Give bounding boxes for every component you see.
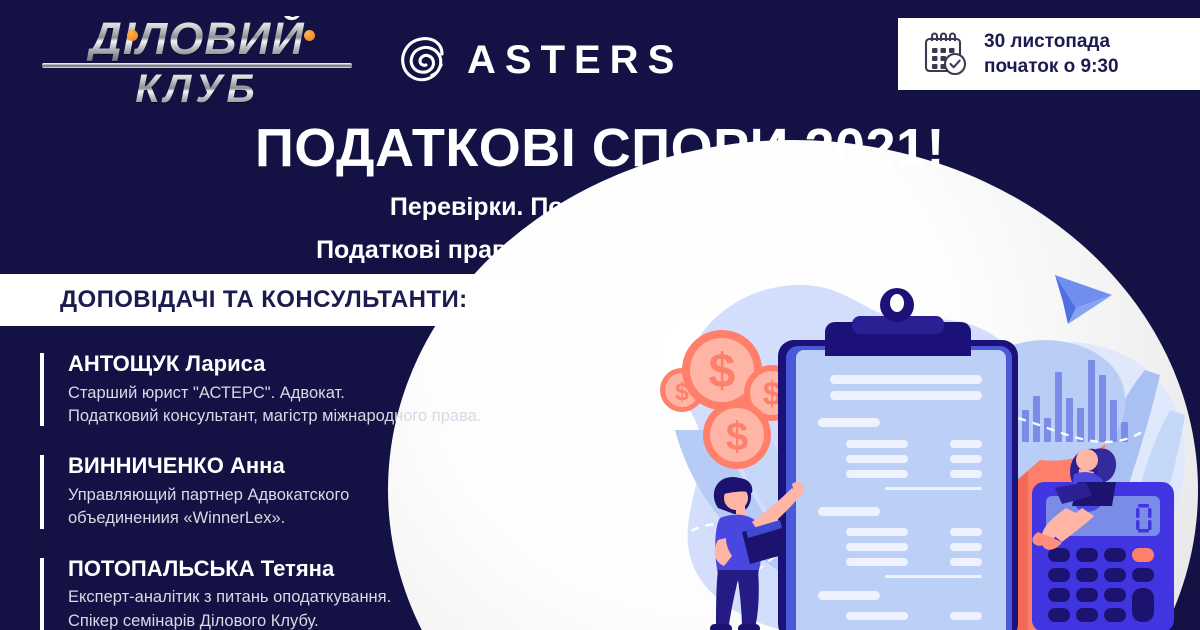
title-block: ПОДАТКОВІ СПОРИ 2021! Перевірки. Податко… [0, 120, 1200, 265]
speaker-accent-bar [40, 558, 44, 630]
asters-logo: ASTERS [398, 34, 683, 86]
calendar-check-icon [922, 31, 968, 77]
logo-dot-right-icon [304, 30, 315, 41]
calculator-accent-key [1132, 548, 1154, 562]
speaker-description-line1: Експерт-аналітик з питань оподаткування. [68, 586, 600, 609]
paper-plane-icon [1055, 275, 1112, 324]
list-item: ПОТОПАЛЬСЬКА Тетяна Експерт-аналітик з п… [40, 555, 600, 630]
speaker-firstname: Тетяна [261, 556, 334, 581]
speaker-accent-bar [40, 455, 44, 528]
speakers-section-header: ДОПОВІДАЧІ ТА КОНСУЛЬТАНТИ: [0, 274, 520, 326]
subtitle-line1: Перевірки. Податковий контроль! [0, 193, 1200, 222]
dilovy-klub-logo: ДІЛОВИЙ КЛУБ [42, 16, 352, 108]
speaker-firstname: Лариса [185, 351, 265, 376]
page-title: ПОДАТКОВІ СПОРИ 2021! [0, 120, 1200, 177]
speaker-name: ПОТОПАЛЬСЬКА Тетяна [68, 555, 600, 584]
asters-spiral-icon [398, 34, 450, 86]
speaker-name: АНТОЩУК Лариса [68, 350, 600, 379]
event-banner: $ $ $ $ [0, 0, 1200, 630]
speaker-surname: ПОТОПАЛЬСЬКА [68, 556, 255, 581]
speaker-description-line2: Податковий консультант, магістр міжнарод… [68, 405, 600, 428]
speaker-surname: ВИННИЧЕНКО [68, 453, 224, 478]
dilovy-klub-logo-line2: КЛУБ [42, 69, 352, 109]
speaker-name: ВИННИЧЕНКО Анна [68, 452, 600, 481]
svg-text:$: $ [726, 415, 748, 459]
tax-audit-illustration: $ $ $ $ [600, 250, 1200, 630]
list-item: АНТОЩУК Лариса Старший юрист "АСТЕРС". А… [40, 350, 600, 428]
list-item: ВИННИЧЕНКО Анна Управляющий партнер Адво… [40, 452, 600, 530]
subtitle-line2: Податкові правопорушення. БЕБ. Зміни 202… [0, 236, 1200, 265]
speaker-description-line1: Старший юрист "АСТЕРС". Адвокат. [68, 382, 600, 405]
speaker-description-line2: объединениия «WinnerLex». [68, 507, 600, 530]
date-card: 30 листопада початок о 9:30 [898, 18, 1200, 90]
coin-bottom: $ [703, 401, 771, 469]
speaker-description-line2: Спікер семінарів Ділового Клубу. [68, 610, 600, 630]
event-time: початок о 9:30 [984, 56, 1119, 78]
speaker-surname: АНТОЩУК [68, 351, 179, 376]
event-date: 30 листопада [984, 31, 1119, 53]
svg-text:$: $ [709, 345, 736, 398]
header: ДІЛОВИЙ КЛУБ ASTERS [0, 0, 1200, 110]
asters-wordmark: ASTERS [467, 38, 683, 83]
speaker-firstname: Анна [230, 453, 285, 478]
speaker-description-line1: Управляющий партнер Адвокатского [68, 484, 600, 507]
speakers-list: АНТОЩУК Лариса Старший юрист "АСТЕРС". А… [40, 350, 600, 630]
speakers-section-label: ДОПОВІДАЧІ ТА КОНСУЛЬТАНТИ: [60, 286, 468, 314]
speaker-accent-bar [40, 353, 44, 426]
logo-dot-left-icon [127, 30, 138, 41]
